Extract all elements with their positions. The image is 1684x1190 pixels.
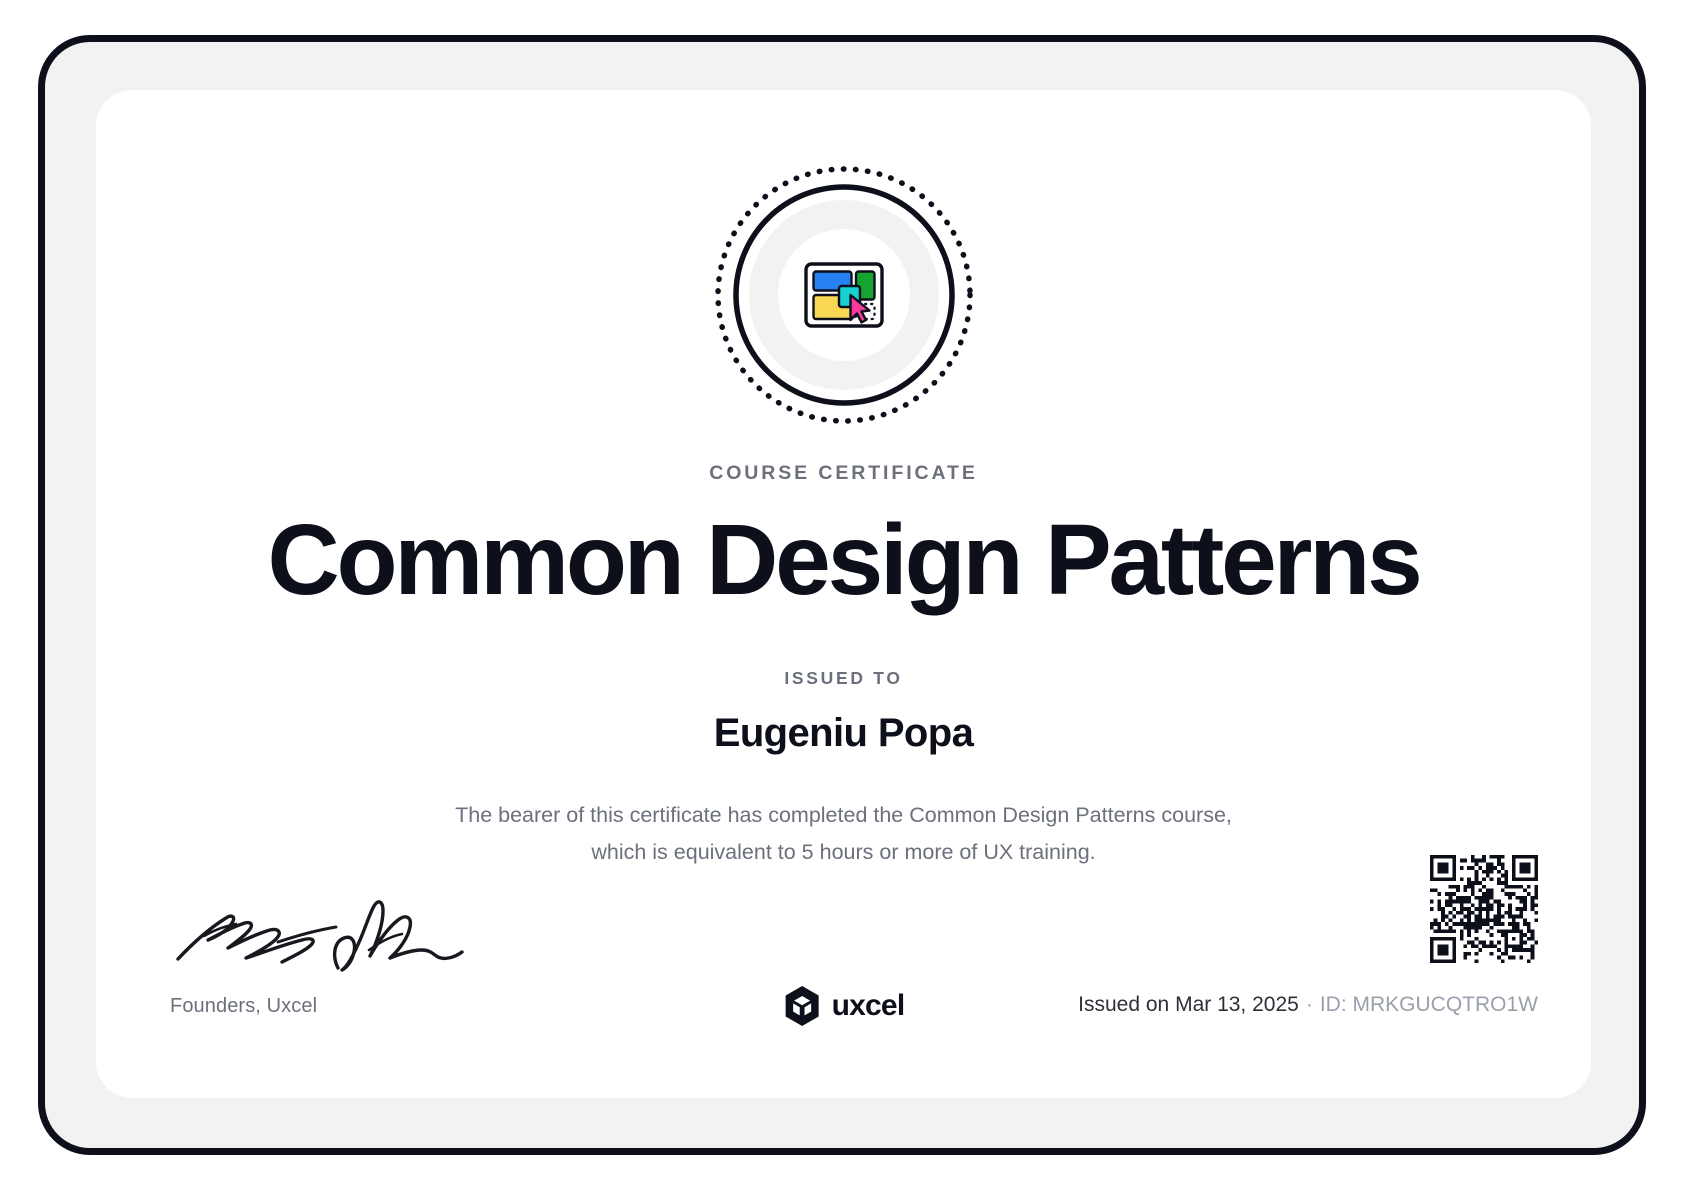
certificate-title: Common Design Patterns bbox=[96, 508, 1591, 613]
seal-ring-text: UXCEL CERTIFIED • UXCEL CERTIFIED • bbox=[713, 164, 921, 167]
certificate-card: UXCEL CERTIFIED • UXCEL CERTIFIED • COUR… bbox=[96, 90, 1591, 1098]
founder-signatures bbox=[170, 880, 470, 975]
course-certificate-kicker: COURSE CERTIFICATE bbox=[96, 462, 1591, 485]
certificate-frame: UXCEL CERTIFIED • UXCEL CERTIFIED • COUR… bbox=[38, 35, 1646, 1155]
certificate-body-text: The bearer of this certificate has compl… bbox=[434, 797, 1254, 871]
credential-qr-code[interactable] bbox=[1430, 855, 1538, 963]
meta-separator: · bbox=[1306, 993, 1313, 1016]
credential-id: ID: MRKGUCQTRO1W bbox=[1320, 993, 1538, 1016]
certification-seal: UXCEL CERTIFIED • UXCEL CERTIFIED • bbox=[713, 164, 975, 426]
issued-on-date: Issued on Mar 13, 2025 bbox=[1078, 993, 1299, 1016]
qr-code-graphic bbox=[1430, 855, 1538, 963]
uxcel-cube-hexagon-logo bbox=[783, 985, 821, 1027]
issue-metadata: Issued on Mar 13, 2025·ID: MRKGUCQTRO1W bbox=[1078, 993, 1538, 1017]
signature-caption: Founders, Uxcel bbox=[170, 995, 317, 1018]
signature-strokes bbox=[170, 880, 470, 975]
issued-to-label: ISSUED TO bbox=[96, 668, 1591, 689]
uxcel-wordmark: uxcel bbox=[832, 989, 905, 1023]
recipient-name: Eugeniu Popa bbox=[96, 711, 1591, 756]
layout-blocks-cursor-icon bbox=[806, 264, 882, 326]
seal-graphic: UXCEL CERTIFIED • UXCEL CERTIFIED • bbox=[713, 164, 975, 426]
uxcel-brand-lockup: uxcel bbox=[783, 985, 905, 1027]
